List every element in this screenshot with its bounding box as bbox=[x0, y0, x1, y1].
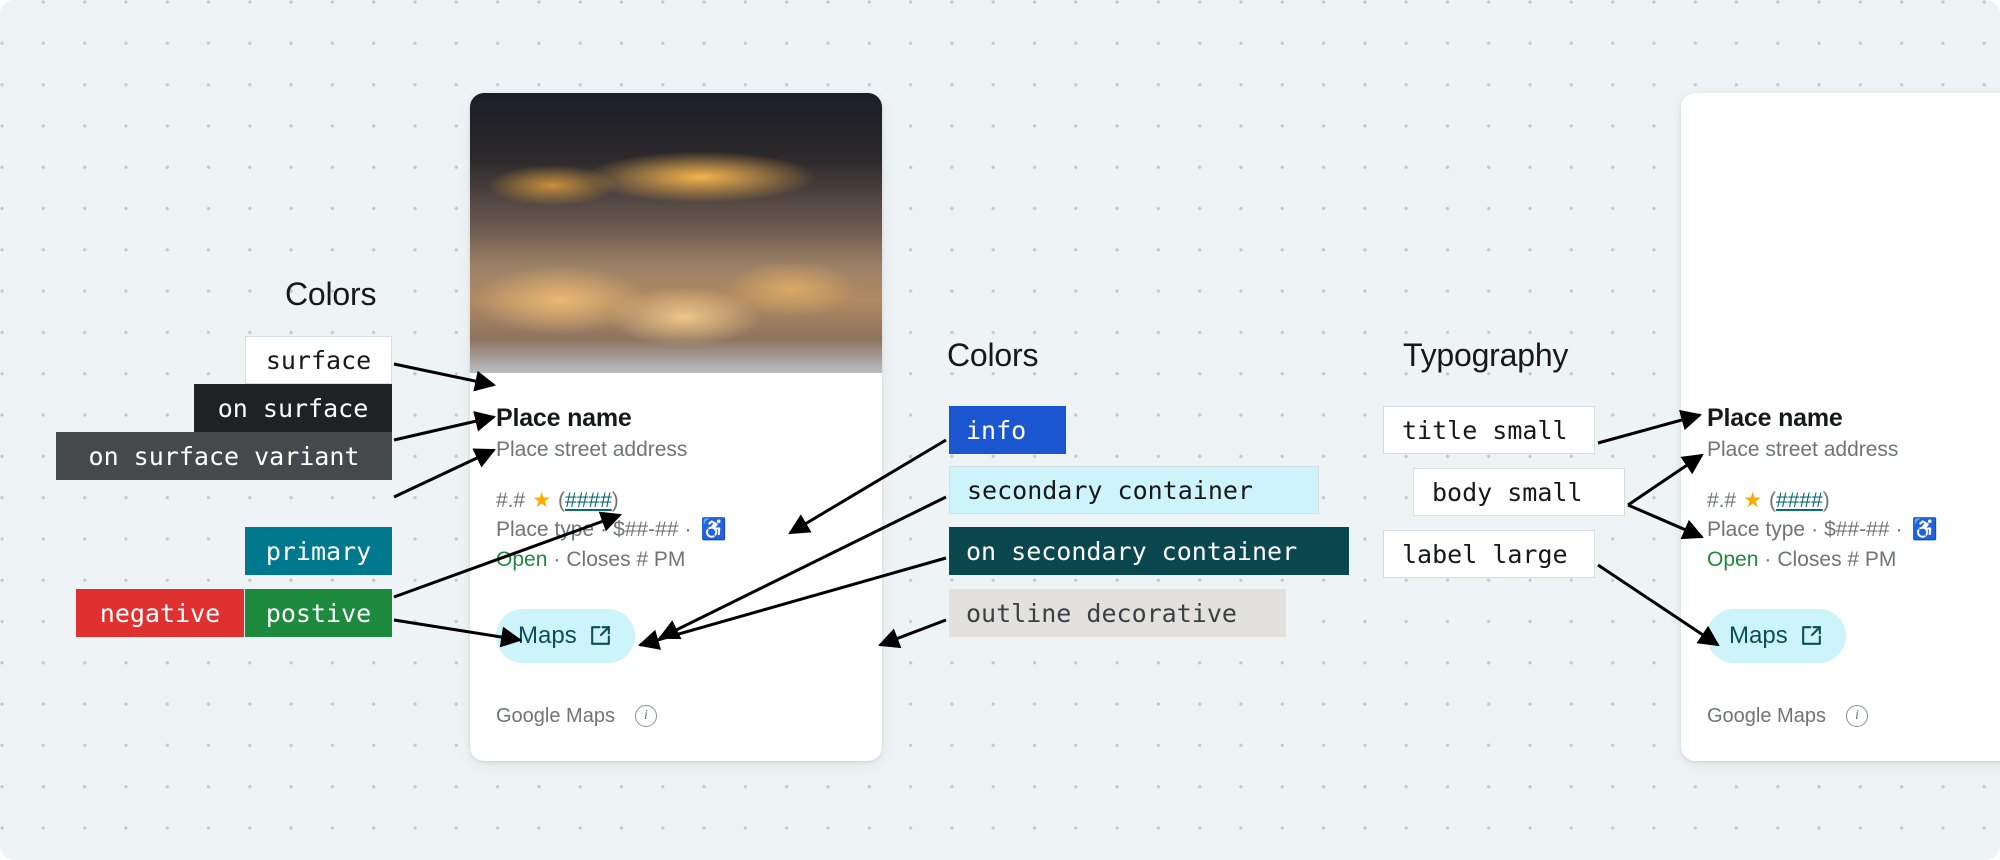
rating-value: #.# bbox=[496, 486, 525, 516]
annotation-board: Colors Colors Typography surface on surf… bbox=[0, 0, 2000, 860]
color-chip-negative[interactable]: negative bbox=[76, 589, 244, 637]
section-title-colors-mid: Colors bbox=[947, 337, 1038, 374]
card-footer: Google Maps i bbox=[1707, 705, 2000, 728]
color-chip-secondary-container[interactable]: secondary container bbox=[949, 466, 1319, 514]
review-count-link[interactable]: #### bbox=[1776, 486, 1823, 516]
separator-dot: · bbox=[684, 515, 691, 545]
place-card-right[interactable]: Place name Place street address #.# ★ ( … bbox=[1681, 93, 2000, 761]
accessibility-icon: ♿ bbox=[700, 515, 726, 545]
star-icon: ★ bbox=[1743, 486, 1762, 516]
place-address: Place street address bbox=[1707, 436, 2000, 463]
place-name: Place name bbox=[496, 403, 856, 434]
place-hours-row: Open · Closes # PM bbox=[1707, 545, 2000, 575]
color-chip-positive[interactable]: postive bbox=[245, 589, 392, 637]
place-type-row: Place type · $##-## · ♿ bbox=[496, 515, 856, 545]
type-chip-label: body small bbox=[1432, 478, 1583, 507]
open-status: Open bbox=[496, 545, 547, 575]
color-chip-label: on surface variant bbox=[89, 442, 360, 471]
paren-close: ) bbox=[612, 486, 619, 516]
place-hours-row: Open · Closes # PM bbox=[496, 545, 856, 575]
place-type: Place type bbox=[496, 515, 594, 545]
card-footer: Google Maps i bbox=[496, 705, 856, 728]
color-chip-label: negative bbox=[100, 599, 220, 628]
paren-open: ( bbox=[558, 486, 565, 516]
separator-dot: · bbox=[1895, 515, 1902, 545]
place-type-row: Place type · $##-## · ♿ bbox=[1707, 515, 2000, 545]
footer-label: Google Maps bbox=[1707, 705, 1826, 728]
separator-dot: · bbox=[1811, 515, 1818, 545]
color-chip-label: secondary container bbox=[967, 476, 1253, 505]
type-chip-label: title small bbox=[1402, 416, 1568, 445]
type-chip-label: label large bbox=[1402, 540, 1568, 569]
external-link-icon bbox=[588, 623, 613, 648]
paren-close: ) bbox=[1823, 486, 1830, 516]
bakery-display-photo bbox=[470, 93, 882, 373]
color-chip-on-secondary-container[interactable]: on secondary container bbox=[949, 527, 1349, 575]
separator-dot: · bbox=[600, 515, 607, 545]
type-chip-label-large[interactable]: label large bbox=[1383, 530, 1595, 578]
color-chip-primary[interactable]: primary bbox=[245, 527, 392, 575]
color-chip-label: outline decorative bbox=[966, 599, 1237, 628]
price-range: $##-## bbox=[613, 515, 678, 545]
closing-time: Closes # PM bbox=[1777, 545, 1896, 575]
maps-button[interactable]: Maps bbox=[1707, 609, 1846, 663]
color-chip-on-surface[interactable]: on surface bbox=[194, 384, 392, 432]
color-chip-label: surface bbox=[266, 346, 371, 375]
review-count-link[interactable]: #### bbox=[565, 486, 612, 516]
type-chip-title-small[interactable]: title small bbox=[1383, 406, 1595, 454]
color-chip-label: primary bbox=[266, 537, 371, 566]
place-rating-row: #.# ★ ( #### ) bbox=[1707, 486, 2000, 516]
cafe-interior-photo bbox=[1681, 93, 2000, 373]
external-link-icon bbox=[1799, 623, 1824, 648]
separator-dot: · bbox=[553, 545, 560, 575]
accessibility-icon: ♿ bbox=[1911, 515, 1937, 545]
star-icon: ★ bbox=[532, 486, 551, 516]
paren-open: ( bbox=[1769, 486, 1776, 516]
type-chip-body-small[interactable]: body small bbox=[1413, 468, 1625, 516]
place-rating-row: #.# ★ ( #### ) bbox=[496, 486, 856, 516]
color-chip-label: on secondary container bbox=[966, 537, 1297, 566]
price-range: $##-## bbox=[1824, 515, 1889, 545]
place-name: Place name bbox=[1707, 403, 2000, 434]
color-chip-label: info bbox=[966, 416, 1026, 445]
footer-label: Google Maps bbox=[496, 705, 615, 728]
place-address: Place street address bbox=[496, 436, 856, 463]
color-chip-outline-decorative[interactable]: outline decorative bbox=[949, 589, 1286, 637]
place-card-left[interactable]: Place name Place street address #.# ★ ( … bbox=[470, 93, 882, 761]
color-chip-info[interactable]: info bbox=[949, 406, 1066, 454]
color-chip-surface[interactable]: surface bbox=[245, 336, 392, 384]
rating-value: #.# bbox=[1707, 486, 1736, 516]
maps-button-label: Maps bbox=[518, 622, 577, 650]
color-chip-on-surface-variant[interactable]: on surface variant bbox=[56, 432, 392, 480]
maps-button[interactable]: Maps bbox=[496, 609, 635, 663]
info-icon[interactable]: i bbox=[1846, 705, 1868, 727]
section-title-colors-left: Colors bbox=[285, 276, 376, 313]
arrow-outline-to-card-edge bbox=[880, 620, 946, 645]
color-chip-label: on surface bbox=[218, 394, 369, 423]
maps-button-label: Maps bbox=[1729, 622, 1788, 650]
color-chip-label: postive bbox=[266, 599, 371, 628]
open-status: Open bbox=[1707, 545, 1758, 575]
section-title-typography: Typography bbox=[1403, 337, 1568, 374]
info-icon[interactable]: i bbox=[635, 705, 657, 727]
place-type: Place type bbox=[1707, 515, 1805, 545]
closing-time: Closes # PM bbox=[566, 545, 685, 575]
separator-dot: · bbox=[1764, 545, 1771, 575]
